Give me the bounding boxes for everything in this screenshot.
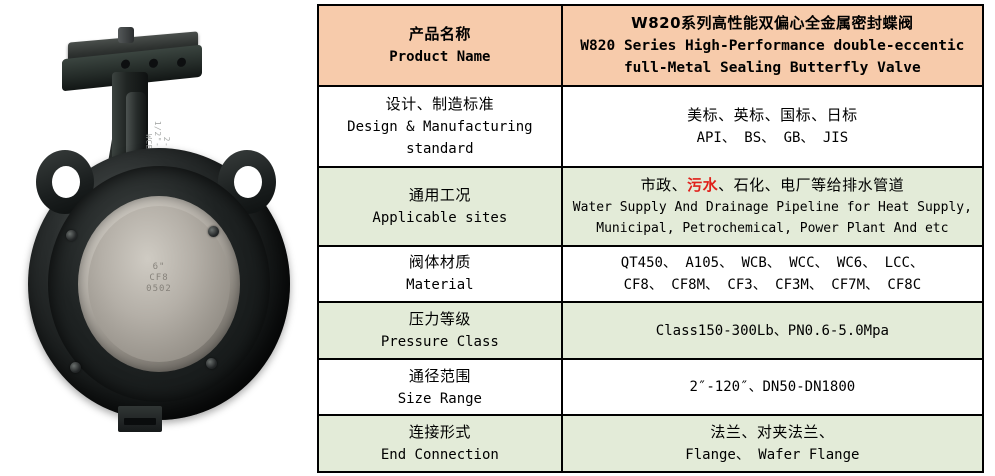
spec-value-line: Flange、 Wafer Flange xyxy=(569,444,976,466)
spec-label-en: Pressure Class xyxy=(325,331,555,353)
spec-row: 通径范围Size Range2″-120″、DN50-DN1800 xyxy=(318,359,983,416)
spec-value-cell: 美标、英标、国标、日标API、 BS、 GB、 JIS xyxy=(562,86,983,167)
spec-label-cell: 通径范围Size Range xyxy=(318,359,562,416)
product-spec-sheet: 2-1/2"-150WCB 6"CF80502 产品名称Product Name… xyxy=(0,0,995,476)
spec-label-en: Product Name xyxy=(325,46,555,68)
spec-value-line: 美标、英标、国标、日标 xyxy=(569,104,976,127)
spec-row: 连接形式End Connection法兰、对夹法兰、Flange、 Wafer … xyxy=(318,415,983,472)
valve-bolt-icon xyxy=(206,358,217,369)
spec-value-line: Class150-300Lb、PN0.6-5.0Mpa xyxy=(569,320,976,342)
spec-value-line: W820系列高性能双偏心全金属密封蝶阀 xyxy=(569,12,976,35)
spec-value-line: 、石化、电厂等给排水管道 xyxy=(718,176,904,194)
spec-value-line: 法兰、对夹法兰、 xyxy=(569,421,976,444)
spec-row: 通用工况Applicable sites市政、污水、石化、电厂等给排水管道Wat… xyxy=(318,167,983,246)
product-photo: 2-1/2"-150WCB 6"CF80502 xyxy=(0,0,310,476)
butterfly-valve-illustration: 2-1/2"-150WCB 6"CF80502 xyxy=(0,0,310,476)
spec-label-en: Material xyxy=(325,274,555,296)
spec-label-cell: 阀体材质Material xyxy=(318,246,562,303)
spec-label-en: Size Range xyxy=(325,388,555,410)
valve-stub-shaft-icon xyxy=(118,27,134,43)
spec-value-line: CF8、 CF8M、 CF3、 CF3M、 CF7M、 CF8C xyxy=(569,274,976,296)
spec-value-cell: 市政、污水、石化、电厂等给排水管道Water Supply And Draina… xyxy=(562,167,983,246)
valve-bolt-icon xyxy=(208,226,219,237)
valve-disc-stamp-text: 6"CF80502 xyxy=(88,262,230,295)
spec-value-cell: 法兰、对夹法兰、Flange、 Wafer Flange xyxy=(562,415,983,472)
valve-bolt-icon xyxy=(70,362,81,373)
spec-label-cn: 通用工况 xyxy=(325,184,555,207)
spec-label-en: Applicable sites xyxy=(325,207,555,229)
spec-label-cell: 通用工况Applicable sites xyxy=(318,167,562,246)
spec-value-line: Water Supply And Drainage Pipeline for H… xyxy=(569,197,976,218)
spec-value-line: QT450、 A105、 WCB、 WCC、 WC6、 LCC、 xyxy=(569,252,976,274)
spec-label-cell: 连接形式End Connection xyxy=(318,415,562,472)
spec-row: 阀体材质MaterialQT450、 A105、 WCB、 WCC、 WC6、 … xyxy=(318,246,983,303)
spec-label-cell: 设计、制造标准Design & Manufacturingstandard xyxy=(318,86,562,167)
spec-label-cn: 压力等级 xyxy=(325,308,555,331)
spec-value-line-group: 市政、污水、石化、电厂等给排水管道 xyxy=(569,174,976,197)
spec-value-line: 市政、 xyxy=(641,176,688,194)
spec-row: 压力等级Pressure ClassClass150-300Lb、PN0.6-5… xyxy=(318,302,983,359)
spec-value-line: W820 Series High-Performance double-ecce… xyxy=(569,35,976,57)
spec-value-highlight: 污水 xyxy=(687,176,718,194)
spec-label-en-cont: standard xyxy=(325,138,555,160)
spec-value-line: API、 BS、 GB、 JIS xyxy=(569,127,976,149)
spec-label-cn: 通径范围 xyxy=(325,365,555,388)
spec-value-cell: QT450、 A105、 WCB、 WCC、 WC6、 LCC、CF8、 CF8… xyxy=(562,246,983,303)
spec-value-cell: Class150-300Lb、PN0.6-5.0Mpa xyxy=(562,302,983,359)
spec-row: 设计、制造标准Design & Manufacturingstandard美标、… xyxy=(318,86,983,167)
spec-value-cell: W820系列高性能双偏心全金属密封蝶阀W820 Series High-Perf… xyxy=(562,5,983,86)
spec-label-cn: 设计、制造标准 xyxy=(325,93,555,116)
valve-bolt-icon xyxy=(66,230,77,241)
spec-label-cn: 连接形式 xyxy=(325,421,555,444)
spec-value-line: 2″-120″、DN50-DN1800 xyxy=(569,376,976,398)
spec-row: 产品名称Product NameW820系列高性能双偏心全金属密封蝶阀W820 … xyxy=(318,5,983,86)
spec-label-en: End Connection xyxy=(325,444,555,466)
spec-value-line: Municipal, Petrochemical, Power Plant An… xyxy=(569,218,976,239)
valve-bottom-foot-icon xyxy=(118,406,162,432)
spec-label-en: Design & Manufacturing xyxy=(325,116,555,138)
specification-table: 产品名称Product NameW820系列高性能双偏心全金属密封蝶阀W820 … xyxy=(317,4,984,473)
spec-label-cell: 压力等级Pressure Class xyxy=(318,302,562,359)
spec-label-cn: 阀体材质 xyxy=(325,251,555,274)
specification-table-body: 产品名称Product NameW820系列高性能双偏心全金属密封蝶阀W820 … xyxy=(318,5,983,472)
spec-label-cell: 产品名称Product Name xyxy=(318,5,562,86)
spec-value-line: full-Metal Sealing Butterfly Valve xyxy=(569,57,976,79)
spec-label-cn: 产品名称 xyxy=(325,23,555,46)
spec-value-cell: 2″-120″、DN50-DN1800 xyxy=(562,359,983,416)
